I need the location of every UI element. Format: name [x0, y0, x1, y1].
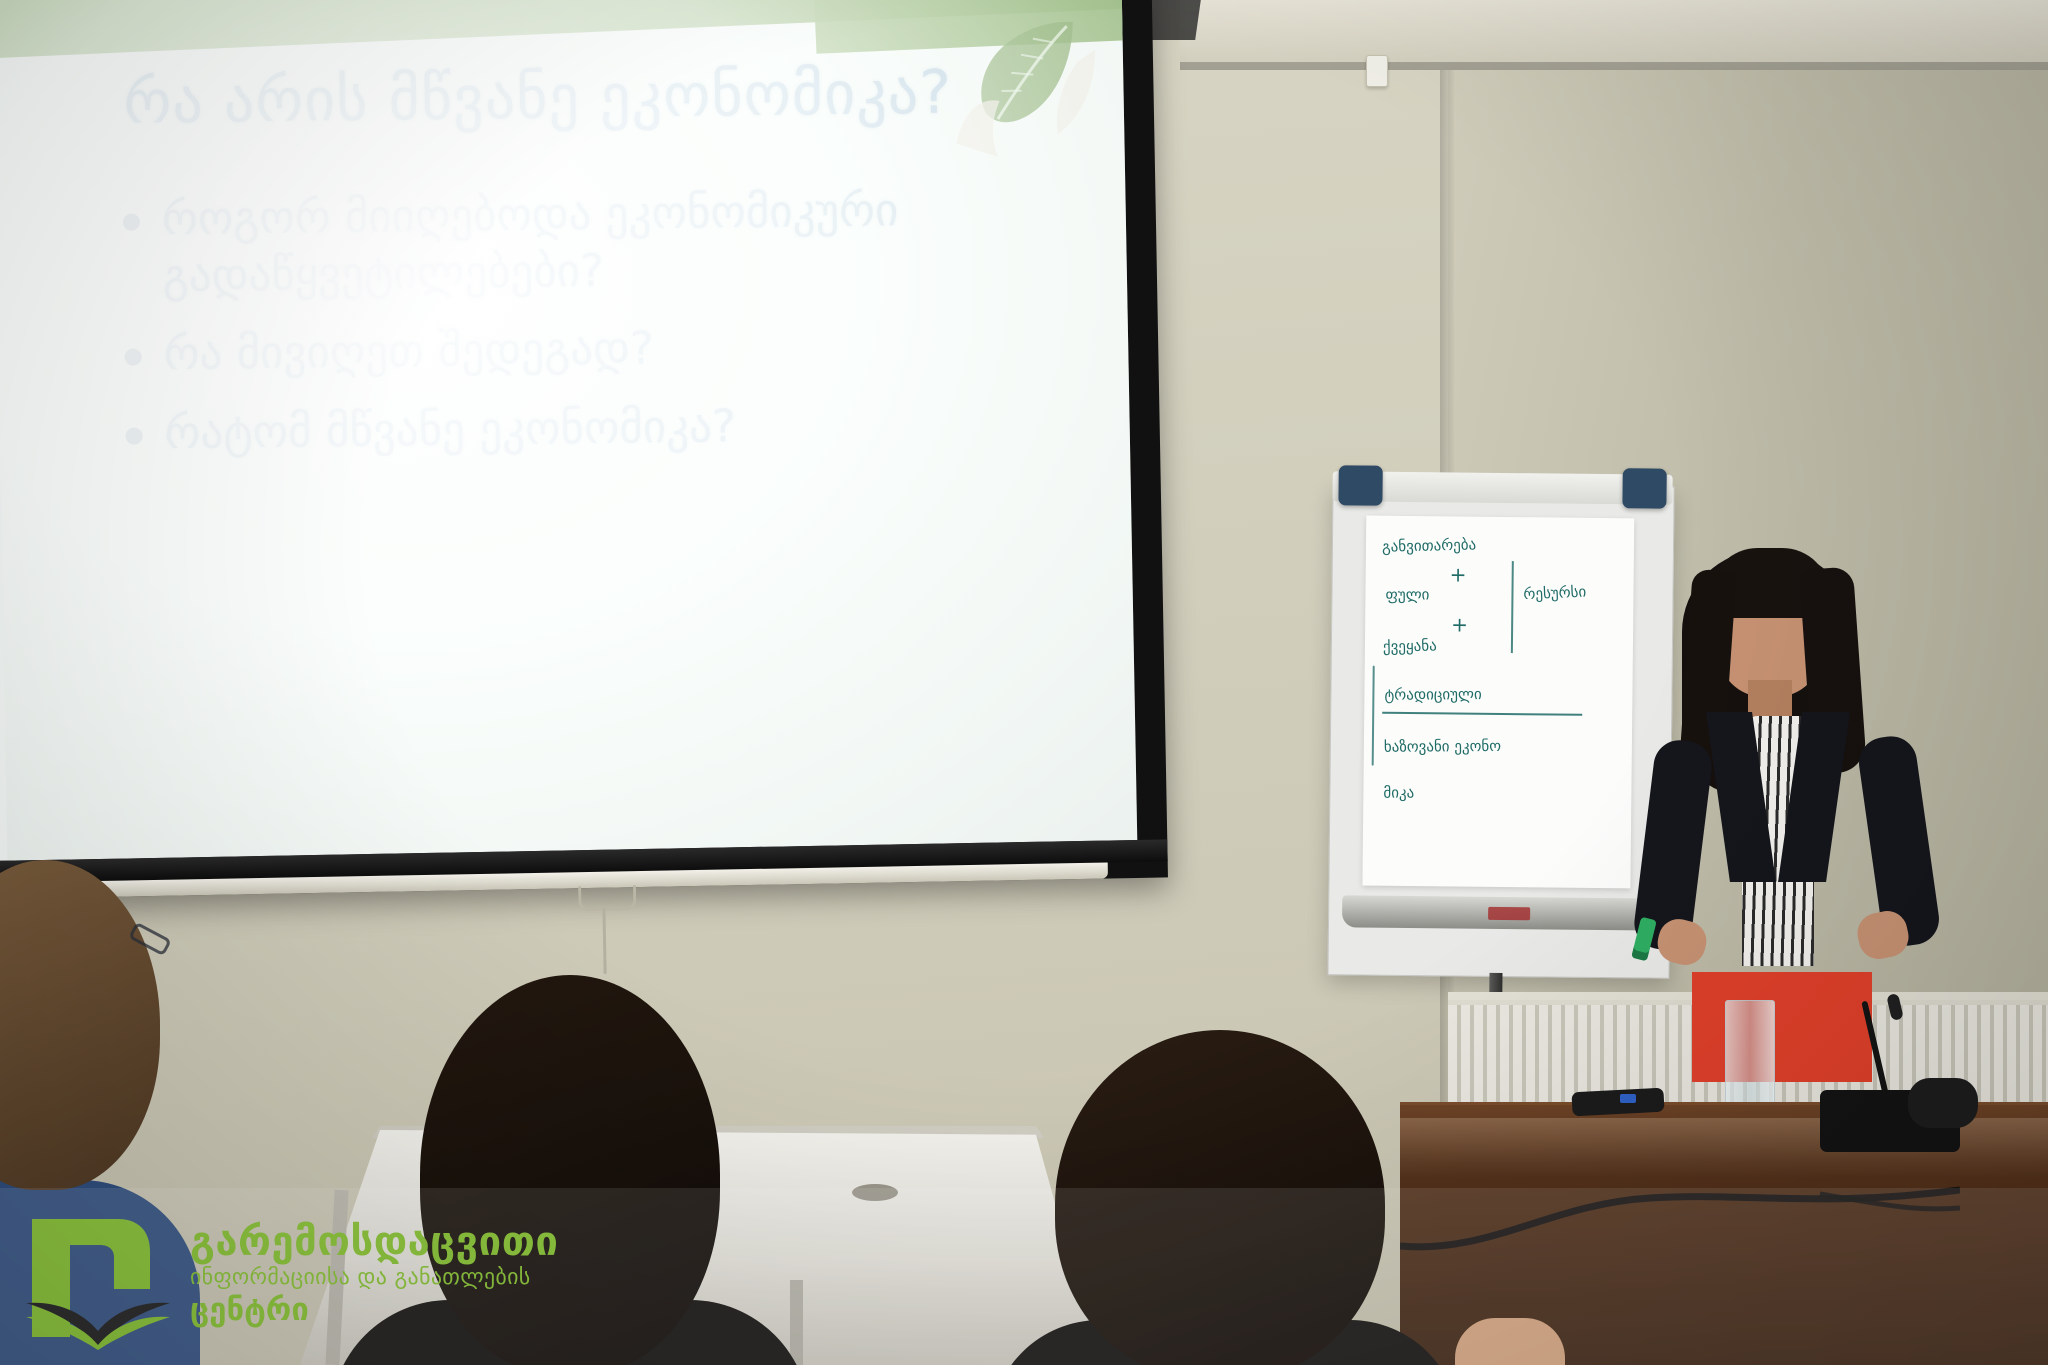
- handwriting-underline: [1382, 712, 1582, 716]
- flipchart-clip-left[interactable]: [1338, 465, 1382, 505]
- handwriting-line: ხაზოვანი ეკონო: [1384, 737, 1501, 756]
- tv-remote[interactable]: [1571, 1088, 1664, 1117]
- bullet-text: რა მივიღეთ შედეგად?: [163, 321, 654, 384]
- screen-pull-handle[interactable]: [578, 885, 636, 911]
- slide: რა არის მწვანე ეკონომიკა? როგორ მიიღებოდ…: [0, 0, 1137, 857]
- flipchart-paper: განვითარება + ფული + ქვეყანა რესურსი ტრა…: [1362, 516, 1634, 889]
- flipchart-clip-right[interactable]: [1622, 468, 1666, 508]
- logo-line-3: ცენტრი: [190, 1293, 660, 1327]
- bullet-dot-icon: [126, 428, 143, 445]
- smoke-detector-icon: [1366, 55, 1388, 87]
- projection-screen: რა არის მწვანე ეკონომიკა? როგორ მიიღებოდ…: [0, 0, 1198, 919]
- handwriting-line: ქვეყანა: [1383, 636, 1437, 655]
- slide-bullet-list: როგორ მიიღებოდა ეკონომიკური გადაწყვეტილე…: [123, 180, 1127, 485]
- bullet-dot-icon: [125, 349, 142, 366]
- logo-text: გარემოსდაცვითი ინფორმაციისა და განათლები…: [190, 1221, 660, 1327]
- screen-surface: რა არის მწვანე ეკონომიკა? როგორ მიიღებოდ…: [0, 0, 1137, 861]
- bullet-dot-icon: [123, 214, 140, 231]
- handwriting-plus: +: [1451, 612, 1468, 636]
- handwriting-brace: [1372, 666, 1375, 766]
- logo-line-2: ინფორმაციისა და განათლების: [190, 1265, 660, 1291]
- remote-button[interactable]: [1620, 1094, 1636, 1103]
- screen-frame: რა არის მწვანე ეკონომიკა? როგორ მიიღებოდ…: [0, 0, 1168, 899]
- microphone-pod: [1908, 1078, 1978, 1128]
- presentation-photo-scene: რა არის მწვანე ეკონომიკა? როგორ მიიღებოდ…: [0, 0, 2048, 1365]
- bullet-text: რატომ მწვანე ეკონომიკა?: [164, 398, 736, 462]
- handwriting-line: მიკა: [1383, 784, 1414, 802]
- slide-title: რა არის მწვანე ეკონომიკა?: [123, 60, 1104, 135]
- handwriting-divider: [1511, 561, 1514, 653]
- handwriting-line: განვითარება: [1382, 535, 1477, 555]
- logo-line-1: გარემოსდაცვითი: [190, 1221, 660, 1263]
- list-item: რა მივიღეთ შედეგად?: [124, 315, 1125, 384]
- ceiling: [1180, 0, 2048, 70]
- ceiling-edge: [1180, 62, 2048, 70]
- organization-logo: გარემოსდაცვითი ინფორმაციისა და განათლები…: [22, 1205, 662, 1355]
- list-item: რატომ მწვანე ეკონომიკა?: [125, 394, 1126, 463]
- handwriting-plus: +: [1450, 562, 1467, 586]
- bullet-text: როგორ მიიღებოდა ეკონომიკური გადაწყვეტილე…: [162, 180, 1124, 305]
- handwriting-line: ფული: [1385, 585, 1429, 603]
- presenter: [1630, 540, 1960, 1100]
- list-item: როგორ მიიღებოდა ეკონომიკური გადაწყვეტილე…: [123, 180, 1124, 306]
- handwriting-line: რესურსი: [1523, 583, 1586, 604]
- flipchart-brand-label: [1488, 907, 1530, 920]
- handwriting-line: ტრადიციული: [1384, 685, 1481, 704]
- open-book-icon: [22, 1205, 174, 1350]
